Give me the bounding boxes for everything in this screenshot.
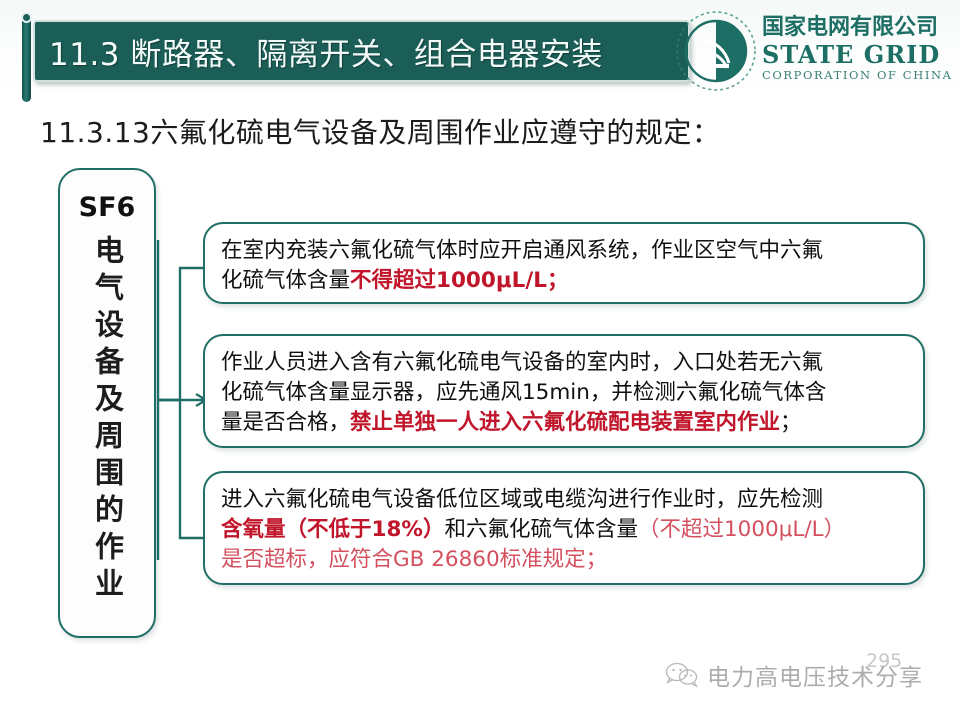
title-pole-decoration bbox=[22, 16, 31, 102]
logo-english-subtitle: CORPORATION OF CHINA bbox=[762, 70, 948, 82]
rule-text-run: 禁止单独一人进入六氟化硫配电装置室内作业 bbox=[350, 410, 780, 435]
rule-line: 进入六氟化硫电气设备低位区域或电缆沟进行作业时，应先检测 bbox=[221, 485, 909, 515]
state-grid-logo: 国家电网有限公司 STATE GRID CORPORATION OF CHINA bbox=[762, 17, 948, 82]
rule-text-run: 化硫气体含量显示器，应先通风15min，并检测六氟化硫气体含 bbox=[221, 380, 826, 405]
rule-text-run: 化硫气体含量 bbox=[221, 268, 350, 293]
rule-text-run: ； bbox=[547, 268, 569, 293]
rule-text-run: （不超过1000μL/L） bbox=[638, 517, 845, 542]
page-title-bar: 11.3 断路器、隔离开关、组合电器安装 bbox=[33, 20, 690, 82]
rule-text-run: 不得超过1000μL/L bbox=[350, 268, 547, 293]
sf6-vertical-label: 电气设备及周围的作业 bbox=[93, 235, 122, 605]
rule-line: 含氧量（不低于18%）和六氟化硫气体含量（不超过1000μL/L） bbox=[221, 515, 909, 545]
rule-text-run: 量是否合格， bbox=[221, 410, 350, 435]
page-number: 295 bbox=[866, 650, 902, 672]
rule-line: 量是否合格，禁止单独一人进入六氟化硫配电装置室内作业； bbox=[221, 408, 909, 438]
wechat-icon bbox=[665, 661, 699, 689]
rule-line: 化硫气体含量显示器，应先通风15min，并检测六氟化硫气体含 bbox=[221, 378, 909, 408]
rule-text-run: 作业人员进入含有六氟化硫电气设备的室内时，入口处若无六氟 bbox=[221, 350, 823, 375]
rule-box-3: 进入六氟化硫电气设备低位区域或电缆沟进行作业时，应先检测含氧量（不低于18%）和… bbox=[203, 471, 925, 585]
slide-header: 11.3 断路器、隔离开关、组合电器安装 国家电网有限公司 STATE GRID… bbox=[0, 0, 960, 104]
state-grid-emblem-icon bbox=[673, 8, 759, 94]
rule-line: 在室内充装六氟化硫气体时应开启通风系统，作业区空气中六氟 bbox=[221, 236, 909, 266]
section-subtitle-text: 11.3.13六氟化硫电气设备及周围作业应遵守的规定： bbox=[40, 111, 720, 151]
rule-text-run: 在室内充装六氟化硫气体时应开启通风系统，作业区空气中六氟 bbox=[221, 238, 823, 263]
logo-english-name: STATE GRID bbox=[762, 43, 948, 67]
rule-box-1: 在室内充装六氟化硫气体时应开启通风系统，作业区空气中六氟化硫气体含量不得超过10… bbox=[203, 222, 925, 304]
rule-line: 是否超标，应符合GB 26860标准规定； bbox=[221, 545, 909, 575]
section-subtitle: 11.3.13六氟化硫电气设备及周围作业应遵守的规定： bbox=[40, 108, 920, 154]
rule-line: 作业人员进入含有六氟化硫电气设备的室内时，入口处若无六氟 bbox=[221, 348, 909, 378]
slide-canvas: 11.3 断路器、隔离开关、组合电器安装 国家电网有限公司 STATE GRID… bbox=[0, 0, 960, 720]
rule-text-run: 进入六氟化硫电气设备低位区域或电缆沟进行作业时，应先检测 bbox=[221, 487, 823, 512]
title-pole-knob-icon bbox=[21, 12, 32, 23]
rule-text-run: 是否超标，应符合GB 26860标准规定； bbox=[221, 547, 607, 572]
rule-box-2: 作业人员进入含有六氟化硫电气设备的室内时，入口处若无六氟化硫气体含量显示器，应先… bbox=[203, 334, 925, 448]
rule-text-run: 和六氟化硫气体含量 bbox=[444, 517, 638, 542]
rule-line: 化硫气体含量不得超过1000μL/L； bbox=[221, 266, 909, 296]
page-title: 11.3 断路器、隔离开关、组合电器安装 bbox=[35, 29, 603, 74]
rule-text-run: 含氧量（不低于18%） bbox=[221, 517, 444, 542]
rule-text-run: ； bbox=[780, 410, 802, 435]
logo-chinese-name: 国家电网有限公司 bbox=[762, 17, 948, 39]
sf6-category-box: SF6 电气设备及周围的作业 bbox=[58, 168, 156, 638]
sf6-label: SF6 bbox=[79, 192, 136, 223]
